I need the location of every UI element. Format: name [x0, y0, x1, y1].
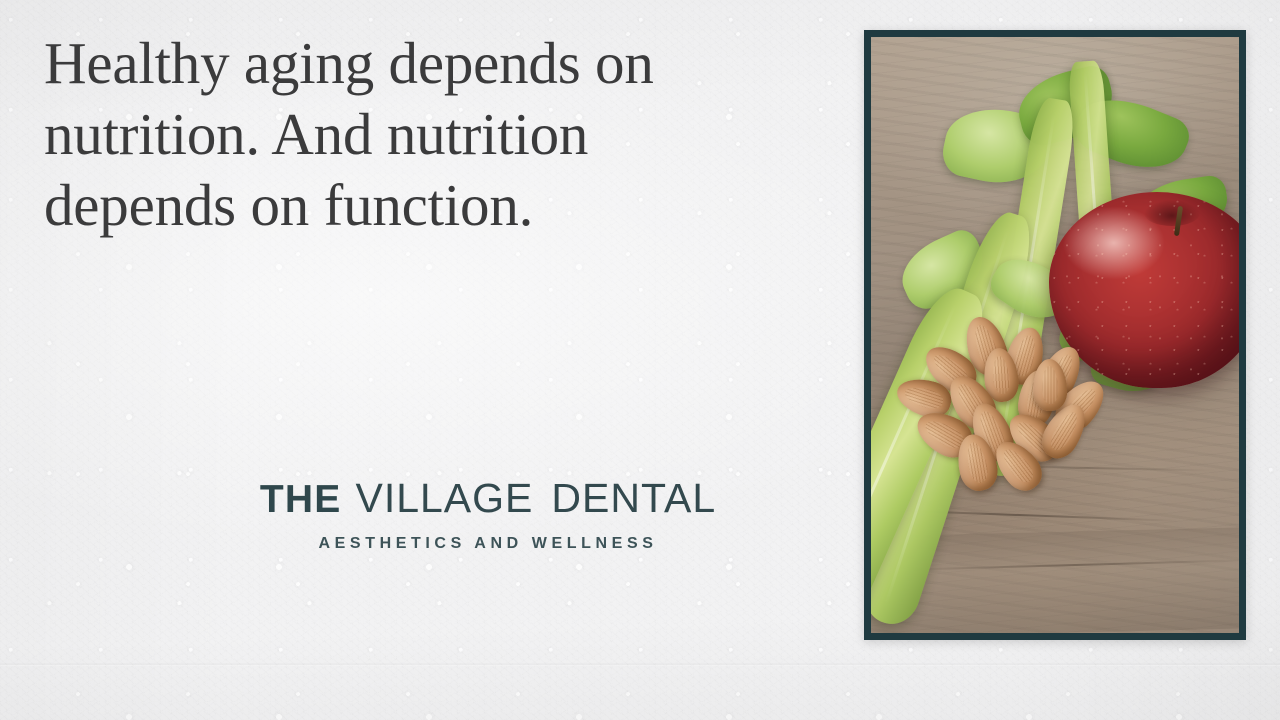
- headline-text: Healthy aging depends on nutrition. And …: [44, 28, 784, 241]
- logo-wordmark: THE VILLAGE DENTAL: [218, 478, 758, 519]
- apple-stem-well: [1144, 200, 1200, 226]
- paper-crease-line: [0, 663, 1280, 666]
- almond-pile: [897, 323, 1133, 502]
- logo-tagline: AESTHETICS AND WELLNESS: [218, 536, 758, 552]
- photo-frame: Celery stalks with leaves, a red apple, …: [864, 30, 1246, 640]
- slide-canvas: Healthy aging depends on nutrition. And …: [0, 0, 1280, 720]
- logo-word-dental: DENTAL: [551, 478, 716, 519]
- food-photograph: Celery stalks with leaves, a red apple, …: [871, 37, 1239, 633]
- brand-logo: THE VILLAGE DENTAL AESTHETICS AND WELLNE…: [218, 478, 758, 552]
- logo-word-village: VILLAGE: [355, 478, 533, 519]
- logo-word-the: THE: [260, 480, 342, 519]
